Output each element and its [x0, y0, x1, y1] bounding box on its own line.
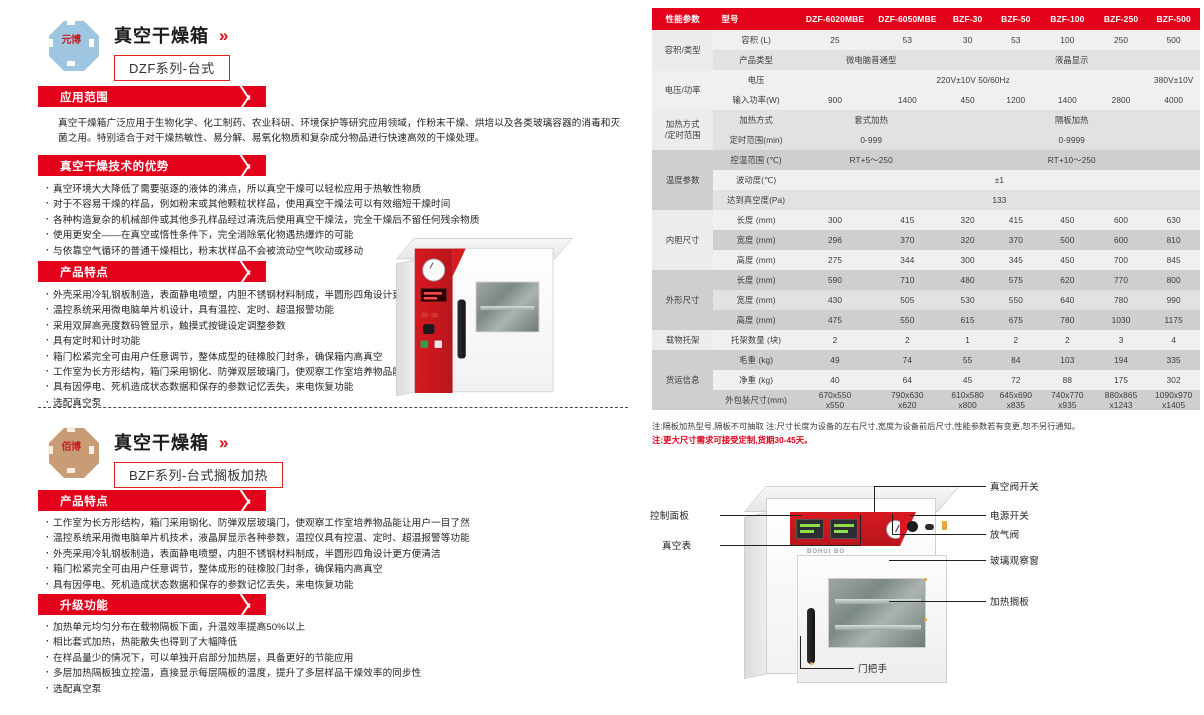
table-cell: 53: [871, 30, 943, 50]
table-cell: 液晶显示: [944, 50, 1200, 70]
col-header: DZF-6020MBE: [799, 8, 871, 30]
list-item: 对于不容易干燥的样品，例如粉末或其他颗粒状样品，使用真空干燥法可以有效缩短干燥时…: [46, 197, 480, 212]
air-release-valve[interactable]: [925, 524, 934, 530]
section-banner-upgrade: 升级功能: [38, 594, 266, 615]
row-label: 加热方式: [713, 110, 798, 130]
table-cell: 780: [1040, 310, 1095, 330]
table-row: 波动度(℃)±1: [652, 170, 1200, 190]
section-banner-features-2: 产品特点: [38, 490, 266, 511]
glass-window: [828, 578, 926, 648]
table-cell: 450: [944, 90, 992, 110]
section-divider: [38, 407, 628, 408]
table-cell: 645x690x835: [992, 390, 1040, 410]
table-cell: 296: [799, 230, 871, 250]
section-heading: 产品特点: [60, 493, 108, 509]
col-header: 型号: [713, 8, 798, 30]
callout-label-glass-window: 玻璃观察窗: [990, 553, 1039, 567]
table-cell: 810: [1147, 230, 1200, 250]
leader-line: [892, 534, 986, 535]
table-cell: 133: [799, 190, 1200, 210]
chevron-right-icon: [232, 490, 266, 511]
table-cell: 4000: [1147, 90, 1200, 110]
row-label: 产品类型: [713, 50, 798, 70]
product-1-series: DZF系列-台式: [114, 55, 230, 81]
callout-label-vacuum-gauge: 真空表: [662, 538, 691, 552]
row-label: 宽度 (mm): [713, 290, 798, 310]
list-item: 选配真空泵: [46, 396, 470, 411]
logo-text: 元博: [46, 35, 96, 47]
row-label: 长度 (mm): [713, 210, 798, 230]
list-item: 各种构造复杂的机械部件或其他多孔样品经过清洗后使用真空干燥法，完全干燥后不留任何…: [46, 213, 480, 228]
table-cell: 780: [1095, 290, 1148, 310]
row-label: 宽度 (mm): [713, 230, 798, 250]
row-group-label: 温度参数: [652, 150, 713, 210]
table-cell: 500: [1040, 230, 1095, 250]
table-row: 内胆尺寸长度 (mm)300415320415450600630: [652, 210, 1200, 230]
double-chevron-right-icon: »: [219, 27, 228, 44]
leader-line: [720, 515, 802, 516]
row-label: 电压: [713, 70, 798, 90]
table-cell: 710: [871, 270, 943, 290]
table-cell: 450: [1040, 210, 1095, 230]
table-cell: 53: [992, 30, 1040, 50]
row-label: 高度 (mm): [713, 310, 798, 330]
col-header: BZF-500: [1147, 8, 1200, 30]
table-cell: 2: [992, 330, 1040, 350]
chevron-right-icon: [232, 155, 266, 176]
row-label: 高度 (mm): [713, 250, 798, 270]
list-item: 相比套式加热，热能散失也得到了大幅降低: [46, 635, 421, 650]
table-cell: 450: [1040, 250, 1095, 270]
table-cell: 320: [944, 230, 992, 250]
section-heading: 升级功能: [60, 597, 108, 613]
row-label: 输入功率(W): [713, 90, 798, 110]
table-row: 温度参数控温范围 (℃)RT+5～250RT+10～250: [652, 150, 1200, 170]
callout-dot: [924, 618, 927, 621]
table-cell: 0-9999: [944, 130, 1200, 150]
leader-line: [874, 486, 986, 487]
logo-text: 佰博: [46, 442, 96, 454]
table-cell: 770: [1095, 270, 1148, 290]
row-label: 波动度(℃): [713, 170, 798, 190]
table-row: 容积/类型容积 (L)25533053100250500: [652, 30, 1200, 50]
table-cell: 103: [1040, 350, 1095, 370]
leader-line: [874, 486, 875, 512]
chevron-right-icon: [232, 261, 266, 282]
table-cell: 880x865x1243: [1095, 390, 1148, 410]
table-cell: 615: [944, 310, 992, 330]
table-cell: 845: [1147, 250, 1200, 270]
table-cell: 620: [1040, 270, 1095, 290]
table-cell: 600: [1095, 230, 1148, 250]
table-cell: 74: [871, 350, 943, 370]
table-cell: 64: [871, 370, 943, 390]
brand-logo-baibo: 佰博: [46, 425, 102, 481]
note-line-1: 注:隔板加热型号,隔板不可抽取 注:尺寸长度为设备的左右尺寸,宽度为设备前后尺寸…: [652, 420, 1200, 433]
table-cell: 88: [1040, 370, 1095, 390]
table-cell: 49: [799, 350, 871, 370]
table-cell: 2: [799, 330, 871, 350]
product-1-title: 真空干燥箱: [114, 22, 209, 48]
door-handle: [807, 608, 815, 664]
section-heading: 真空干燥技术的优势: [60, 158, 169, 174]
row-label: 外包装尺寸(mm): [713, 390, 798, 410]
table-cell: 600: [1095, 210, 1148, 230]
table-cell: 1200: [992, 90, 1040, 110]
table-cell: 790x630x620: [871, 390, 943, 410]
table-cell: 610x580x800: [944, 390, 992, 410]
right-column: 性能参数 型号 DZF-6020MBE DZF-6050MBE BZF-30 B…: [652, 0, 1204, 715]
leader-line: [889, 601, 986, 602]
table-cell: 302: [1147, 370, 1200, 390]
table-cell: 640: [1040, 290, 1095, 310]
table-row: 产品类型微电脑普通型液晶显示: [652, 50, 1200, 70]
brochure-page: 元博 真空干燥箱 » DZF系列-台式 应用范围 真空干燥箱广泛应用于生物化学、…: [0, 0, 1204, 715]
table-cell: 55: [944, 350, 992, 370]
left-column: 元博 真空干燥箱 » DZF系列-台式 应用范围 真空干燥箱广泛应用于生物化学、…: [0, 0, 648, 715]
table-cell: 250: [1095, 30, 1148, 50]
row-label: 托架数量 (块): [713, 330, 798, 350]
list-item: 工作室为长方形结构，箱门采用钢化、防弹双层玻璃门，使观察工作室培养物品能让用户一…: [46, 516, 470, 531]
leader-line: [860, 515, 861, 545]
note-line-2: 注:更大尺寸需求可接受定制,货期30-45天。: [652, 434, 1200, 447]
table-cell: 590: [799, 270, 871, 290]
callout-label-door-handle: 门把手: [858, 661, 887, 675]
table-cell: 2800: [1095, 90, 1148, 110]
callout-label-control-panel: 控制面板: [650, 508, 689, 522]
specification-table: 性能参数 型号 DZF-6020MBE DZF-6050MBE BZF-30 B…: [652, 8, 1200, 410]
table-cell: 370: [992, 230, 1040, 250]
row-group-label: 电压/功率: [652, 70, 713, 110]
leader-line: [910, 515, 986, 516]
leader-line: [800, 636, 801, 669]
table-cell: 2: [1040, 330, 1095, 350]
table-row: 电压/功率电压220V±10V 50/60Hz380V±10V: [652, 70, 1200, 90]
table-cell: 175: [1095, 370, 1148, 390]
table-cell: 415: [992, 210, 1040, 230]
row-label: 毛重 (kg): [713, 350, 798, 370]
section-banner-advantages: 真空干燥技术的优势: [38, 155, 266, 176]
table-cell: 675: [992, 310, 1040, 330]
row-group-label: 容积/类型: [652, 30, 713, 70]
table-cell: 480: [944, 270, 992, 290]
table-cell: 630: [1147, 210, 1200, 230]
table-cell: 500: [1147, 30, 1200, 50]
table-cell: 550: [871, 310, 943, 330]
col-header: BZF-250: [1095, 8, 1148, 30]
application-scope-paragraph: 真空干燥箱广泛应用于生物化学、化工制药、农业科研、环境保护等研究应用领域，作粉末…: [58, 116, 628, 146]
features-list-2: 工作室为长方形结构，箱门采用钢化、防弹双层玻璃门，使观察工作室培养物品能让用户一…: [46, 516, 470, 593]
table-cell: 套式加热: [799, 110, 944, 130]
table-cell: 1030: [1095, 310, 1148, 330]
list-item: 真空环境大大降低了需要驱逐的液体的沸点，所以真空干燥可以轻松应用于热敏性物质: [46, 182, 480, 197]
table-cell: 40: [799, 370, 871, 390]
table-cell: 415: [871, 210, 943, 230]
section-banner-features-1: 产品特点: [38, 261, 266, 282]
table-row: 载物托架托架数量 (块)2212234: [652, 330, 1200, 350]
row-label: 长度 (mm): [713, 270, 798, 290]
chevron-right-icon: [232, 86, 266, 107]
table-cell: 1090x970x1405: [1147, 390, 1200, 410]
table-cell: 550: [992, 290, 1040, 310]
table-cell: 隔板加热: [944, 110, 1200, 130]
col-header: DZF-6050MBE: [871, 8, 943, 30]
upgrade-list: 加热单元均匀分布在载物隔板下面，升温效率提高50%以上 相比套式加热，热能散失也…: [46, 620, 421, 697]
table-cell: 194: [1095, 350, 1148, 370]
table-cell: 84: [992, 350, 1040, 370]
table-cell: 740x770x935: [1040, 390, 1095, 410]
list-item: 外壳采用冷轧钢板制造，表面静电喷塑，内胆不锈钢材料制成，半圆形四角设计更方便清洁: [46, 547, 470, 562]
table-cell: 505: [871, 290, 943, 310]
display-screen-left: [796, 519, 824, 539]
table-cell: 700: [1095, 250, 1148, 270]
table-cell: 335: [1147, 350, 1200, 370]
list-item: 加热单元均匀分布在载物隔板下面，升温效率提高50%以上: [46, 620, 421, 635]
list-item: 具有因停电、死机造成状态数据和保存的参数记忆丢失，来电恢复功能: [46, 578, 470, 593]
col-header: 性能参数: [652, 8, 713, 30]
brand-logo-yuanbo: 元博: [46, 18, 102, 74]
section-banner-application-scope: 应用范围: [38, 86, 266, 107]
row-label: 定时范围(min): [713, 130, 798, 150]
table-cell: 430: [799, 290, 871, 310]
table-cell: 30: [944, 30, 992, 50]
table-cell: 1175: [1147, 310, 1200, 330]
machine-side: [744, 512, 768, 679]
callout-dot: [810, 662, 813, 665]
table-cell: 25: [799, 30, 871, 50]
callout-label-heating-shelf: 加热搁板: [990, 594, 1029, 608]
table-row: 加热方式/定时范围加热方式套式加热隔板加热: [652, 110, 1200, 130]
table-cell: 微电脑普通型: [799, 50, 944, 70]
table-header-row: 性能参数 型号 DZF-6020MBE DZF-6050MBE BZF-30 B…: [652, 8, 1200, 30]
section-heading: 产品特点: [60, 264, 108, 280]
table-cell: 370: [871, 230, 943, 250]
callout-label-air-release-valve: 放气阀: [990, 527, 1019, 541]
table-cell: 4: [1147, 330, 1200, 350]
table-cell: 1: [944, 330, 992, 350]
row-label: 控温范围 (℃): [713, 150, 798, 170]
table-cell: 72: [992, 370, 1040, 390]
col-header: BZF-100: [1040, 8, 1095, 30]
product-2-title: 真空干燥箱: [114, 429, 209, 455]
list-item: 选配真空泵: [46, 682, 421, 697]
row-label: 容积 (L): [713, 30, 798, 50]
machine-body: BOHUI BO: [766, 498, 936, 674]
table-cell: 800: [1147, 270, 1200, 290]
table-row: 货运信息毛重 (kg)49745584103194335: [652, 350, 1200, 370]
table-cell: 2: [871, 330, 943, 350]
table-row: 外包装尺寸(mm)670x550x550790x630x620610x580x8…: [652, 390, 1200, 410]
product-2-header: 佰博 真空干燥箱 » BZF系列-台式搁板加热: [46, 425, 283, 488]
table-cell: 1400: [1040, 90, 1095, 110]
table-row: 达到真空度(Pa)133: [652, 190, 1200, 210]
table-row: 高度 (mm)275344300345450700845: [652, 250, 1200, 270]
table-row: 宽度 (mm)296370320370500600810: [652, 230, 1200, 250]
table-notes: 注:隔板加热型号,隔板不可抽取 注:尺寸长度为设备的左右尺寸,宽度为设备前后尺寸…: [652, 420, 1200, 447]
row-group-label: 载物托架: [652, 330, 713, 350]
table-cell: 990: [1147, 290, 1200, 310]
leader-line: [889, 560, 986, 561]
vacuum-valve-switch[interactable]: [907, 521, 918, 532]
heating-shelf: [835, 625, 921, 630]
col-header: BZF-50: [992, 8, 1040, 30]
row-label: 达到真空度(Pa): [713, 190, 798, 210]
table-cell: 0-999: [799, 130, 944, 150]
table-cell: 530: [944, 290, 992, 310]
callout-dot: [924, 578, 927, 581]
leader-line: [720, 545, 860, 546]
control-panel: [790, 512, 900, 546]
table-cell: 3: [1095, 330, 1148, 350]
table-cell: RT+5～250: [799, 150, 944, 170]
product-1-header: 元博 真空干燥箱 » DZF系列-台式: [46, 18, 230, 81]
table-cell: RT+10～250: [944, 150, 1200, 170]
table-row: 净重 (kg)4064457288175302: [652, 370, 1200, 390]
section-heading: 应用范围: [60, 89, 108, 105]
table-cell: 220V±10V 50/60Hz: [799, 70, 1147, 90]
table-cell: 45: [944, 370, 992, 390]
callout-label-power-switch: 电源开关: [990, 508, 1029, 522]
table-cell: 475: [799, 310, 871, 330]
table-cell: 380V±10V: [1147, 70, 1200, 90]
product-1-photo: [396, 238, 564, 360]
table-cell: 275: [799, 250, 871, 270]
table-cell: 1400: [871, 90, 943, 110]
table-row: 高度 (mm)47555061567578010301175: [652, 310, 1200, 330]
row-group-label: 内胆尺寸: [652, 210, 713, 270]
table-cell: 900: [799, 90, 871, 110]
table-cell: 670x550x550: [799, 390, 871, 410]
table-row: 定时范围(min)0-9990-9999: [652, 130, 1200, 150]
table-row: 输入功率(W)90014004501200140028004000: [652, 90, 1200, 110]
double-chevron-right-icon: »: [219, 434, 228, 451]
row-group-label: 外形尺寸: [652, 270, 713, 330]
machine-illustration: BOHUI BO: [744, 486, 944, 686]
vacuum-gauge: [886, 520, 905, 539]
machine-callout-diagram: BOHUI BO: [652, 458, 1204, 708]
table-cell: 100: [1040, 30, 1095, 50]
leader-line: [892, 514, 893, 535]
table-cell: 575: [992, 270, 1040, 290]
table-cell: 320: [944, 210, 992, 230]
table-body: 容积/类型容积 (L)25533053100250500产品类型微电脑普通型液晶…: [652, 30, 1200, 410]
list-item: 温控系统采用微电脑单片机技术，液晶屏显示各种参数，温控仪具有控温、定时、超温报警…: [46, 531, 470, 546]
col-header: BZF-30: [944, 8, 992, 30]
table-cell: 345: [992, 250, 1040, 270]
row-label: 净重 (kg): [713, 370, 798, 390]
product-2-series: BZF系列-台式搁板加热: [114, 462, 283, 488]
list-item: 在样品量少的情况下，可以单独开启部分加热层，具备更好的节能应用: [46, 651, 421, 666]
list-item: 箱门松紧完全可由用户任意调节，整体成形的硅橡胶门封条，确保箱内高真空: [46, 562, 470, 577]
table-cell: 300: [799, 210, 871, 230]
row-group-label: 加热方式/定时范围: [652, 110, 713, 150]
table-cell: ±1: [799, 170, 1200, 190]
list-item: 多层加热隔板独立控温，直接显示每层隔板的温度，提升了多层样品干燥效率的同步性: [46, 666, 421, 681]
table-cell: 344: [871, 250, 943, 270]
leader-line: [800, 668, 854, 669]
table-row: 外形尺寸长度 (mm)590710480575620770800: [652, 270, 1200, 290]
chevron-right-icon: [232, 594, 266, 615]
table-row: 宽度 (mm)430505530550640780990: [652, 290, 1200, 310]
display-screen-right: [830, 519, 858, 539]
table-cell: 300: [944, 250, 992, 270]
callout-label-vacuum-valve-switch: 真空阀开关: [990, 479, 1039, 493]
power-switch[interactable]: [942, 521, 947, 530]
row-group-label: 货运信息: [652, 350, 713, 410]
